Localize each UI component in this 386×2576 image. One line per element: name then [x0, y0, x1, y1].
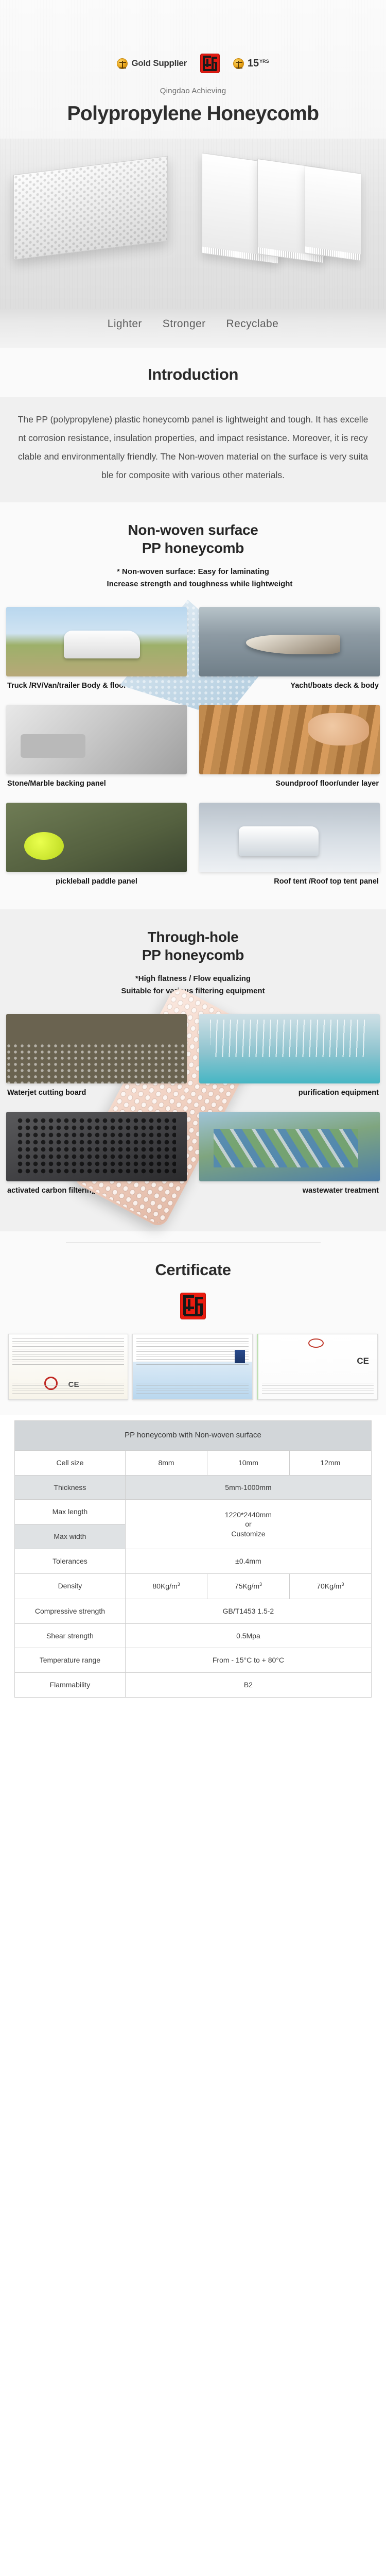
- application-caption: Stone/Marble backing panel: [6, 774, 187, 795]
- nonwoven-bullet-1: * Non-woven surface: Easy for laminating: [5, 566, 381, 578]
- wood-floor-photo: [199, 705, 380, 774]
- nonwoven-heading-line1: Non-woven surface: [0, 521, 386, 539]
- row-value: From - 15°C to + 80°C: [125, 1648, 371, 1673]
- pickleball-photo: [6, 803, 187, 872]
- panel-stack-image-3: [305, 165, 361, 261]
- table-row: Density 80Kg/m3 75Kg/m3 70Kg/m3: [15, 1574, 372, 1599]
- ce-test-report-card: CE: [257, 1334, 378, 1400]
- yacht-photo: [199, 607, 380, 676]
- gold-coin-icon: [117, 58, 128, 69]
- introduction-title: Introduction: [0, 348, 386, 397]
- nonwoven-heading-line2: PP honeycomb: [0, 539, 386, 557]
- row-value: 10mm: [207, 1450, 289, 1475]
- row-value: 1220*2440mm or Customize: [125, 1500, 371, 1549]
- company-red-seal-icon: [200, 54, 220, 73]
- stone-marble-interior-photo: [6, 705, 187, 774]
- application-item: wastewater treatment: [193, 1107, 386, 1205]
- row-label: Flammability: [15, 1673, 126, 1698]
- table-row: Thickness 5mm-1000mm: [15, 1475, 372, 1500]
- row-label: Shear strength: [15, 1623, 126, 1648]
- throughhole-section: Through-hole PP honeycomb *High flatness…: [0, 909, 386, 1232]
- nonwoven-bullets: * Non-woven surface: Easy for laminating…: [0, 557, 386, 600]
- row-label: Tolerances: [15, 1549, 126, 1574]
- row-value: B2: [125, 1673, 371, 1698]
- certificate-title: Certificate: [0, 1243, 386, 1293]
- years-badge: 15 YRS: [233, 58, 269, 70]
- nonwoven-bullet-2: Increase strength and toughness while li…: [94, 578, 293, 590]
- table-row: Shear strength 0.5Mpa: [15, 1623, 372, 1648]
- row-value: 0.5Mpa: [125, 1623, 371, 1648]
- throughhole-heading-line1: Through-hole: [0, 928, 386, 946]
- certificate-text-lines: [12, 1338, 124, 1366]
- certificate-footer-lines: [136, 1383, 248, 1394]
- row-value: 12mm: [289, 1450, 371, 1475]
- supplier-badge-row: Gold Supplier 15 YRS: [0, 52, 386, 75]
- product-detail-page: Gold Supplier 15 YRS Qing: [0, 0, 386, 1721]
- introduction-section: Introduction The PP (polypropylene) plas…: [0, 348, 386, 502]
- application-item: Soundproof floor/under layer: [193, 700, 386, 798]
- specification-section: PP honeycomb with Non-woven surface Cell…: [0, 1415, 386, 1721]
- years-coin-icon: [233, 58, 244, 69]
- row-label: Temperature range: [15, 1648, 126, 1673]
- row-label: Compressive strength: [15, 1599, 126, 1623]
- row-value: 70Kg/m3: [289, 1574, 371, 1599]
- throughhole-heading: Through-hole PP honeycomb: [0, 909, 386, 965]
- tagline-item-3: Recyclabe: [226, 318, 279, 330]
- row-value: GB/T1453 1.5-2: [125, 1599, 371, 1623]
- fountain-purification-photo: [199, 1014, 380, 1083]
- years-suffix: YRS: [259, 59, 269, 64]
- nonwoven-section: Non-woven surface PP honeycomb * Non-wov…: [0, 502, 386, 909]
- gold-supplier-badge: Gold Supplier: [117, 58, 187, 69]
- company-red-seal-icon: [180, 1293, 206, 1319]
- row-value: 5mm-1000mm: [125, 1475, 371, 1500]
- table-header-row: PP honeycomb with Non-woven surface: [15, 1421, 372, 1450]
- gold-supplier-label: Gold Supplier: [131, 58, 187, 69]
- hero-tagline: Lighter Stronger Recyclabe: [0, 309, 386, 348]
- row-label: Thickness: [15, 1475, 126, 1500]
- row-value: 75Kg/m3: [207, 1574, 289, 1599]
- table-row: Max length 1220*2440mm or Customize: [15, 1500, 372, 1524]
- specification-table: PP honeycomb with Non-woven surface Cell…: [14, 1420, 372, 1698]
- table-row: Tolerances ±0.4mm: [15, 1549, 372, 1574]
- row-label: Max length: [15, 1500, 126, 1524]
- brand-name: Qingdao Achieving: [0, 87, 386, 95]
- application-item: pickleball paddle panel: [0, 798, 193, 895]
- table-row: Flammability B2: [15, 1673, 372, 1698]
- certificate-registration-card: [132, 1334, 252, 1400]
- row-label: Cell size: [15, 1450, 126, 1475]
- introduction-body: The PP (polypropylene) plastic honeycomb…: [0, 397, 386, 502]
- table-title-cell: PP honeycomb with Non-woven surface: [15, 1421, 372, 1450]
- page-title: Polypropylene Honeycomb: [0, 103, 386, 125]
- table-row: Cell size 8mm 10mm 12mm: [15, 1450, 372, 1475]
- table-row: Temperature range From - 15°C to + 80°C: [15, 1648, 372, 1673]
- application-caption: Roof tent /Roof top tent panel: [199, 872, 380, 893]
- activated-carbon-photo: [6, 1112, 187, 1181]
- row-label: Density: [15, 1574, 126, 1599]
- application-item: Roof tent /Roof top tent panel: [193, 798, 386, 895]
- tagline-item-2: Stronger: [163, 318, 206, 330]
- certificate-gallery: CE CE: [0, 1329, 386, 1415]
- certificate-section: Certificate CE: [0, 1231, 386, 1415]
- nonwoven-heading: Non-woven surface PP honeycomb: [0, 502, 386, 558]
- years-number: 15: [248, 58, 259, 70]
- ukas-badge-icon: [235, 1350, 245, 1363]
- certificate-footer-lines: [12, 1383, 124, 1394]
- tagline-item-1: Lighter: [108, 318, 142, 330]
- application-item: Stone/Marble backing panel: [0, 700, 193, 798]
- certificate-stamp-icon: [308, 1338, 324, 1348]
- certificate-compliance-card: CE: [8, 1334, 128, 1400]
- roof-tent-van-photo: [199, 803, 380, 872]
- row-value: 8mm: [125, 1450, 207, 1475]
- introduction-paragraph: The PP (polypropylene) plastic honeycomb…: [17, 411, 369, 485]
- certificate-text-lines: [136, 1338, 248, 1366]
- row-value: 80Kg/m3: [125, 1574, 207, 1599]
- rv-trailer-photo: [6, 607, 187, 676]
- application-caption: pickleball paddle panel: [6, 872, 187, 893]
- throughhole-bullet-1: *High flatness / Flow equalizing: [5, 973, 381, 985]
- table-row: Compressive strength GB/T1453 1.5-2: [15, 1599, 372, 1623]
- hero-product-image: [0, 139, 386, 309]
- waterjet-cutting-photo: [6, 1014, 187, 1083]
- row-value: ±0.4mm: [125, 1549, 371, 1574]
- honeycomb-cells-texture: [14, 157, 167, 260]
- honeycomb-slab-image: [13, 156, 168, 260]
- ce-mark-icon: CE: [357, 1356, 369, 1366]
- application-caption: wastewater treatment: [199, 1181, 380, 1202]
- row-label: Max width: [15, 1524, 126, 1549]
- certificate-footer-lines: [262, 1383, 374, 1394]
- hero-section: Gold Supplier 15 YRS Qing: [0, 0, 386, 348]
- throughhole-heading-line2: PP honeycomb: [0, 946, 386, 964]
- wastewater-plant-photo: [199, 1112, 380, 1181]
- application-caption: Soundproof floor/under layer: [199, 774, 380, 795]
